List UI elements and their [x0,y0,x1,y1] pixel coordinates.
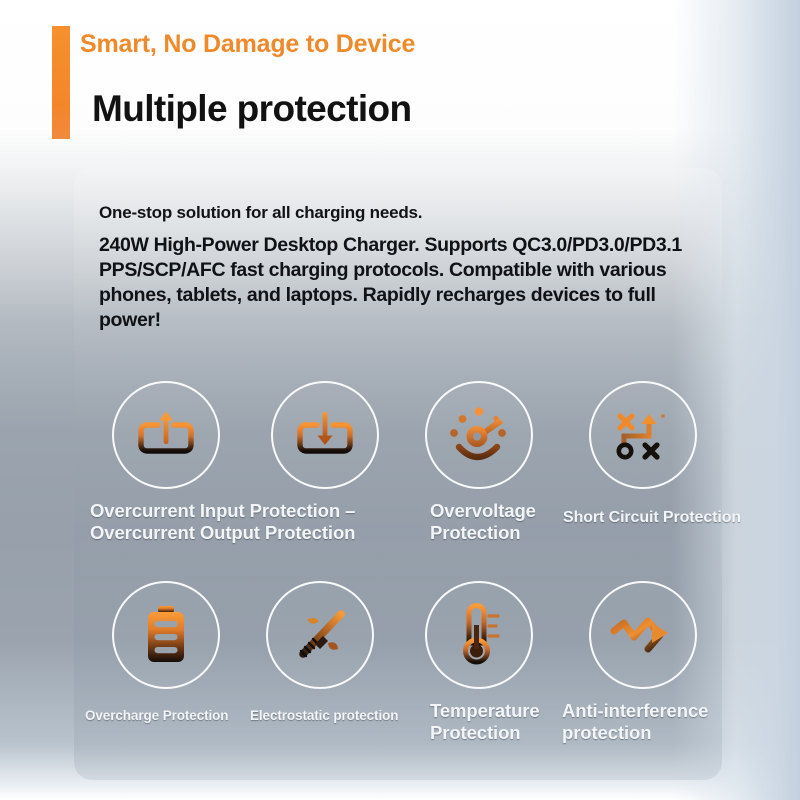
feature-icon-temperature [425,581,533,689]
feature-label-temperature: Temperature Protection [430,700,570,744]
feature-icon-overcharge [112,581,220,689]
intro-paragraph: 240W High-Power Desktop Charger. Support… [99,233,689,333]
page-title: Multiple protection [92,88,412,130]
feature-icon-overcurrent-input [112,381,220,489]
zigzag-arrow-icon [610,611,676,659]
battery-icon [141,605,191,665]
intro-lede: One-stop solution for all charging needs… [99,203,422,223]
feature-icon-overvoltage [425,381,533,489]
thermometer-icon [451,603,507,667]
feature-icon-electrostatic [266,581,374,689]
gauge-icon [446,406,512,464]
feature-label-short-circuit: Short Circuit Protection [563,508,743,528]
marketing-page: Smart, No Damage to Device Multiple prot… [0,0,800,800]
accent-bar [52,26,70,139]
feature-label-overcharge: Overcharge Protection [85,707,255,725]
feature-label-overvoltage: Overvoltage Protection [430,500,570,544]
circuit-break-icon [612,406,674,464]
upload-tray-icon [135,404,197,466]
static-wand-icon [289,604,351,666]
feature-label-anti-interference: Anti-interference protection [562,700,722,744]
feature-icon-overcurrent-output [271,381,379,489]
feature-icon-anti-interference [589,581,697,689]
feature-label-electrostatic: Electrostatic protection [250,707,420,725]
feature-label-overcurrent: Overcurrent Input Protection – Overcurre… [90,500,420,544]
eyebrow-text: Smart, No Damage to Device [80,30,415,59]
download-tray-icon [294,404,356,466]
feature-icon-short-circuit [589,381,697,489]
